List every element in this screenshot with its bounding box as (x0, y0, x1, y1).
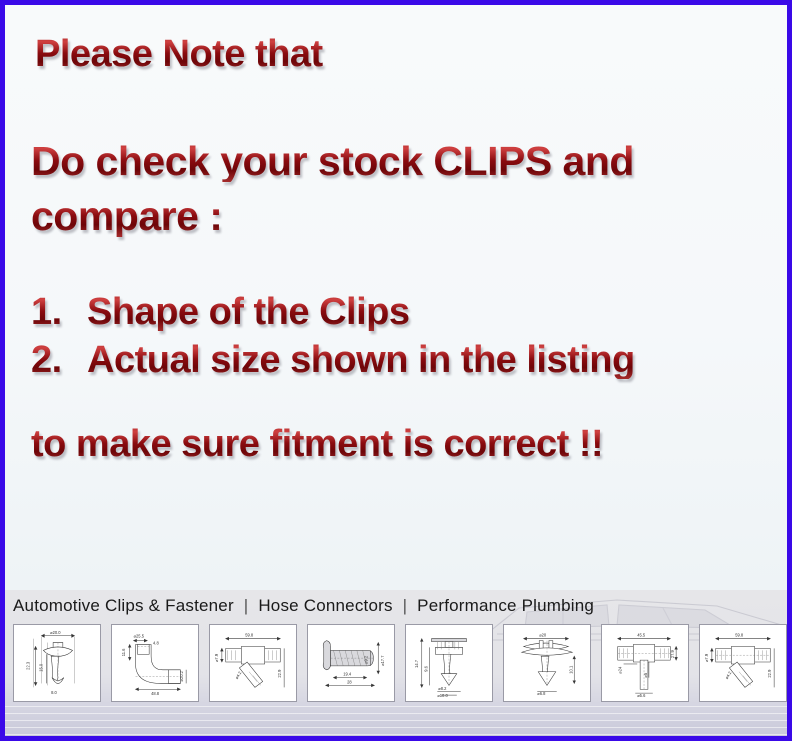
footer-title-part-2: Hose Connectors (258, 596, 392, 615)
list-item-number: 1. (31, 293, 87, 331)
svg-text:⌀6.8: ⌀6.8 (537, 691, 546, 696)
svg-text:⌀8.2: ⌀8.2 (438, 686, 447, 691)
svg-text:22.9: 22.9 (277, 669, 282, 678)
thumbnail-strip: ⌀20.0 22.3 15.0 (13, 624, 787, 702)
notice-body-line-1: Do check your stock CLIPS and (31, 141, 787, 182)
footer-rule-lines (5, 706, 787, 736)
list-item: 1. Shape of the Clips (31, 293, 787, 331)
svg-text:⌀5: ⌀5 (643, 672, 648, 677)
notice-closing: to make sure fitment is correct !! (31, 425, 787, 463)
svg-text:⌀20.2: ⌀20.2 (179, 670, 184, 681)
thumbnail-arrow-head-clip[interactable]: 14.7 9.6 ⌀8.2 ⌀10.0 (405, 624, 493, 702)
svg-text:14.7: 14.7 (414, 659, 419, 668)
notice-body-line-2: compare : (31, 196, 787, 237)
svg-text:15.0: 15.0 (38, 663, 43, 672)
svg-text:59.8: 59.8 (245, 633, 254, 638)
svg-text:59.8: 59.8 (735, 633, 744, 638)
svg-text:⌀25.5: ⌀25.5 (134, 634, 145, 639)
svg-text:⌀5.6: ⌀5.6 (637, 693, 646, 698)
list-item-label: Shape of the Clips (87, 293, 409, 331)
svg-text:48.8: 48.8 (151, 691, 160, 696)
svg-text:⌀4.2: ⌀4.2 (724, 670, 733, 680)
footer-title-separator: | (398, 596, 413, 615)
svg-text:⌀10.0: ⌀10.0 (437, 693, 448, 698)
list-item-label: Actual size shown in the listing (87, 341, 635, 379)
svg-text:⌀24: ⌀24 (618, 666, 623, 674)
svg-text:⌀4.2: ⌀4.2 (234, 670, 243, 680)
svg-text:⌀17.7: ⌀17.7 (380, 655, 385, 666)
svg-text:⌀20: ⌀20 (539, 633, 547, 638)
svg-text:22.3: 22.3 (26, 661, 31, 670)
thumbnail-barbed-push-clip[interactable]: ⌀17.7 ⌀9.2 19.4 28 (307, 624, 395, 702)
notice-title: Please Note that (35, 35, 787, 73)
svg-text:⌀7.9: ⌀7.9 (214, 653, 219, 662)
svg-text:22.9: 22.9 (767, 669, 772, 678)
thumbnail-push-rivet-clip[interactable]: ⌀20.0 22.3 15.0 (13, 624, 101, 702)
svg-text:⌀20.0: ⌀20.0 (50, 630, 61, 635)
svg-text:8.0: 8.0 (51, 690, 57, 695)
notice-check-list: 1. Shape of the Clips 2. Actual size sho… (31, 293, 787, 379)
thumbnail-elbow-hose-connector[interactable]: ⌀25.5 4.8 (111, 624, 199, 702)
notice-frame: Please Note that Do check your stock CLI… (0, 0, 792, 741)
thumbnail-tee-hose-connector[interactable]: 45.5 (601, 624, 689, 702)
svg-text:⌀9.2: ⌀9.2 (364, 655, 369, 664)
thumbnail-y-hose-connector[interactable]: 59.8 (209, 624, 297, 702)
list-item: 2. Actual size shown in the listing (31, 341, 787, 379)
svg-text:10.1: 10.1 (568, 665, 573, 674)
svg-text:⌀7.9: ⌀7.9 (704, 653, 709, 662)
footer-banner: Automotive Clips & Fastener | Hose Conne… (5, 590, 787, 736)
notice-panel: Please Note that Do check your stock CLI… (5, 5, 787, 590)
footer-title-separator: | (239, 596, 254, 615)
thumbnail-y-branch-connector[interactable]: 59.8 (699, 624, 787, 702)
footer-title-part-3: Performance Plumbing (417, 596, 594, 615)
footer-title-part-1: Automotive Clips & Fastener (13, 596, 234, 615)
svg-text:28: 28 (347, 679, 352, 684)
svg-text:11.6: 11.6 (121, 648, 126, 656)
thumbnail-round-head-push-clip[interactable]: ⌀20 1 (503, 624, 591, 702)
svg-text:19.4: 19.4 (343, 672, 352, 677)
svg-text:45.5: 45.5 (637, 633, 646, 638)
list-item-number: 2. (31, 341, 87, 379)
footer-title: Automotive Clips & Fastener | Hose Conne… (5, 590, 787, 616)
svg-text:9.6: 9.6 (424, 665, 429, 671)
svg-text:4.8: 4.8 (153, 641, 159, 646)
svg-text:27.9: 27.9 (670, 649, 675, 658)
